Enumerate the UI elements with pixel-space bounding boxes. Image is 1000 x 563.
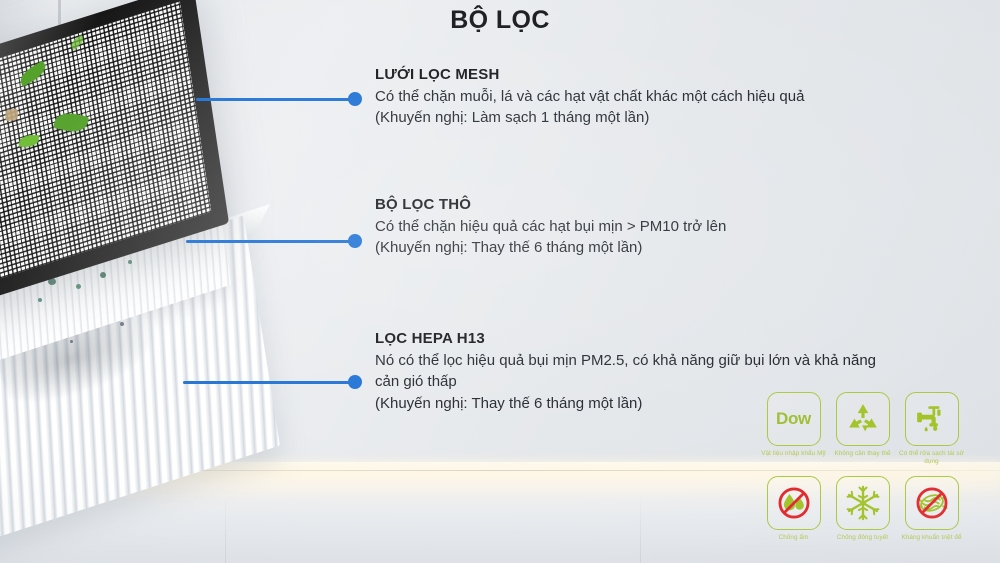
connector-prefilter — [186, 234, 366, 248]
section-prefilter-note: (Khuyến nghị: Thay thế 6 tháng một lần) — [375, 237, 726, 258]
badge-washable-caption: Có thể rửa sạch tái sử dụng — [899, 450, 965, 467]
section-prefilter-description: Có thể chặn hiệu quả các hạt bụi mịn > P… — [375, 216, 726, 237]
filter-infographic: BỘ LỌC LƯỚI LỌC MESH Có thể chặn muỗi, l… — [0, 0, 1000, 563]
section-mesh-note: (Khuyến nghị: Làm sạch 1 tháng một lần) — [375, 107, 804, 128]
badge-antibacterial: Kháng khuẩn triệt để — [898, 476, 965, 542]
section-hepa-description: Nó có thể lọc hiệu quả bụi mịn PM2.5, có… — [375, 350, 876, 371]
section-prefilter: BỘ LỌC THÔ Có thể chặn hiệu quả các hạt … — [375, 196, 726, 259]
badge-moisture-proof: Chống ẩm — [760, 476, 827, 542]
badge-no-replacement-caption: Không cần thay thế — [830, 450, 896, 458]
badge-washable: Có thể rửa sạch tái sử dụng — [898, 392, 965, 467]
faucet-icon — [915, 402, 949, 436]
badge-dow: Dow Vật liệu nhập khẩu Mỹ — [760, 392, 827, 467]
section-mesh-heading: LƯỚI LỌC MESH — [375, 66, 804, 83]
badge-row-2: Chống ẩm — [760, 476, 992, 542]
no-bacteria-icon — [914, 485, 950, 521]
badge-frost-proof: Chống đông tuyết — [829, 476, 896, 542]
no-moisture-icon — [776, 485, 812, 521]
badge-row-1: Dow Vật liệu nhập khẩu Mỹ Không cầ — [760, 392, 992, 467]
recycle-icon — [846, 402, 880, 436]
badge-dow-caption: Vật liệu nhập khẩu Mỹ — [761, 450, 827, 458]
badge-moisture-proof-caption: Chống ẩm — [761, 534, 827, 542]
dow-logo-icon: Dow — [767, 392, 821, 446]
section-hepa-heading: LỌC HEPA H13 — [375, 330, 876, 347]
snowflake-icon — [844, 484, 882, 522]
badge-frost-proof-caption: Chống đông tuyết — [830, 534, 896, 542]
floor-tile-seam — [640, 495, 641, 563]
insect-debris-icon — [5, 109, 18, 122]
section-hepa-description-cont: cản gió thấp — [375, 371, 876, 392]
section-prefilter-heading: BỘ LỌC THÔ — [375, 196, 726, 213]
page-title: BỘ LỌC — [0, 6, 1000, 35]
section-mesh: LƯỚI LỌC MESH Có thể chặn muỗi, lá và cá… — [375, 66, 804, 129]
section-mesh-description: Có thể chặn muỗi, lá và các hạt vật chất… — [375, 86, 804, 107]
feature-badges: Dow Vật liệu nhập khẩu Mỹ Không cầ — [760, 392, 992, 542]
dow-logo-text: Dow — [776, 409, 811, 429]
connector-mesh — [196, 92, 366, 106]
filter-stack-illustration — [0, 10, 390, 530]
badge-antibacterial-caption: Kháng khuẩn triệt để — [899, 534, 965, 542]
badge-no-replacement: Không cần thay thế — [829, 392, 896, 467]
connector-hepa — [183, 375, 366, 389]
